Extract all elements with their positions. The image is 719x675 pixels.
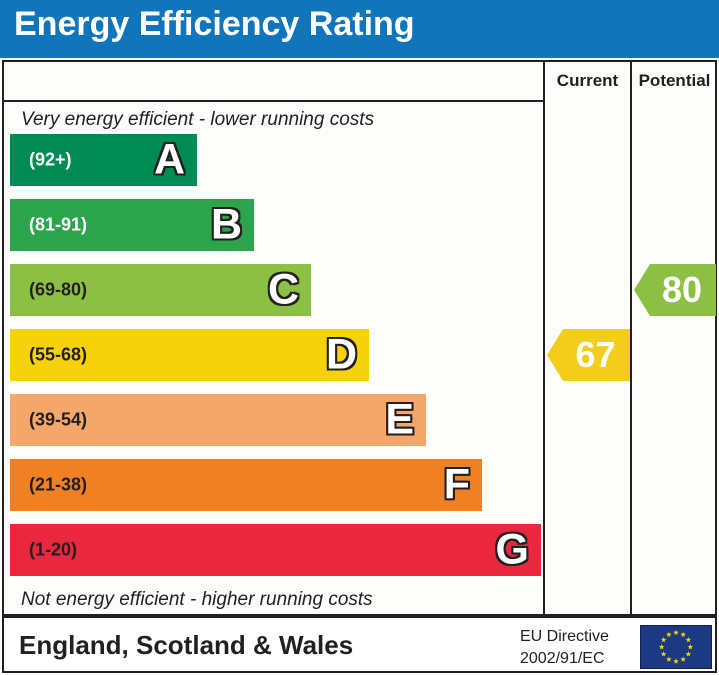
energy-efficiency-rating-chart: Energy Efficiency Rating Current Potenti…: [0, 0, 719, 675]
rating-band-c: (69-80)C: [10, 264, 311, 316]
title-bar: Energy Efficiency Rating: [0, 0, 719, 58]
rating-value-potential: 80: [662, 272, 702, 308]
column-header-potential: Potential: [632, 71, 717, 91]
footer-directive-line2: 2002/91/EC: [520, 648, 609, 670]
rating-band-e: (39-54)E: [10, 394, 426, 446]
band-letter-g: G: [496, 529, 529, 572]
band-letter-e: E: [385, 399, 414, 442]
rating-arrow-potential: 80: [634, 264, 716, 316]
band-range-label-e: (39-54): [29, 410, 87, 431]
footer-directive: EU Directive 2002/91/EC: [520, 626, 609, 669]
rating-value-current: 67: [575, 337, 615, 373]
page-title: Energy Efficiency Rating: [14, 5, 415, 44]
footer-region-label: England, Scotland & Wales: [19, 630, 353, 661]
footer: England, Scotland & Wales EU Directive 2…: [2, 616, 717, 673]
band-letter-f: F: [444, 464, 470, 507]
band-letter-d: D: [326, 334, 357, 377]
band-letter-a: A: [154, 139, 185, 182]
band-range-label-c: (69-80): [29, 280, 87, 301]
band-range-label-a: (92+): [29, 150, 72, 171]
caption-very-efficient: Very energy efficient - lower running co…: [21, 109, 374, 131]
rating-band-d: (55-68)D: [10, 329, 369, 381]
rating-band-a: (92+)A: [10, 134, 197, 186]
chart-body: Current Potential Very energy efficient …: [2, 60, 717, 616]
column-separator-potential: [630, 62, 632, 614]
band-range-label-f: (21-38): [29, 475, 87, 496]
column-separator-current: [543, 62, 545, 614]
caption-not-efficient: Not energy efficient - higher running co…: [21, 589, 373, 611]
column-header-current: Current: [545, 71, 630, 91]
header-row-divider: [4, 100, 543, 102]
rating-band-g: (1-20)G: [10, 524, 541, 576]
band-range-label-b: (81-91): [29, 215, 87, 236]
band-letter-b: B: [211, 204, 242, 247]
eu-flag-icon: [640, 625, 712, 669]
rating-band-f: (21-38)F: [10, 459, 482, 511]
band-range-label-d: (55-68): [29, 345, 87, 366]
band-range-label-g: (1-20): [29, 540, 77, 561]
rating-band-b: (81-91)B: [10, 199, 254, 251]
rating-arrow-current: 67: [547, 329, 630, 381]
footer-directive-line1: EU Directive: [520, 626, 609, 648]
band-letter-c: C: [268, 269, 299, 312]
